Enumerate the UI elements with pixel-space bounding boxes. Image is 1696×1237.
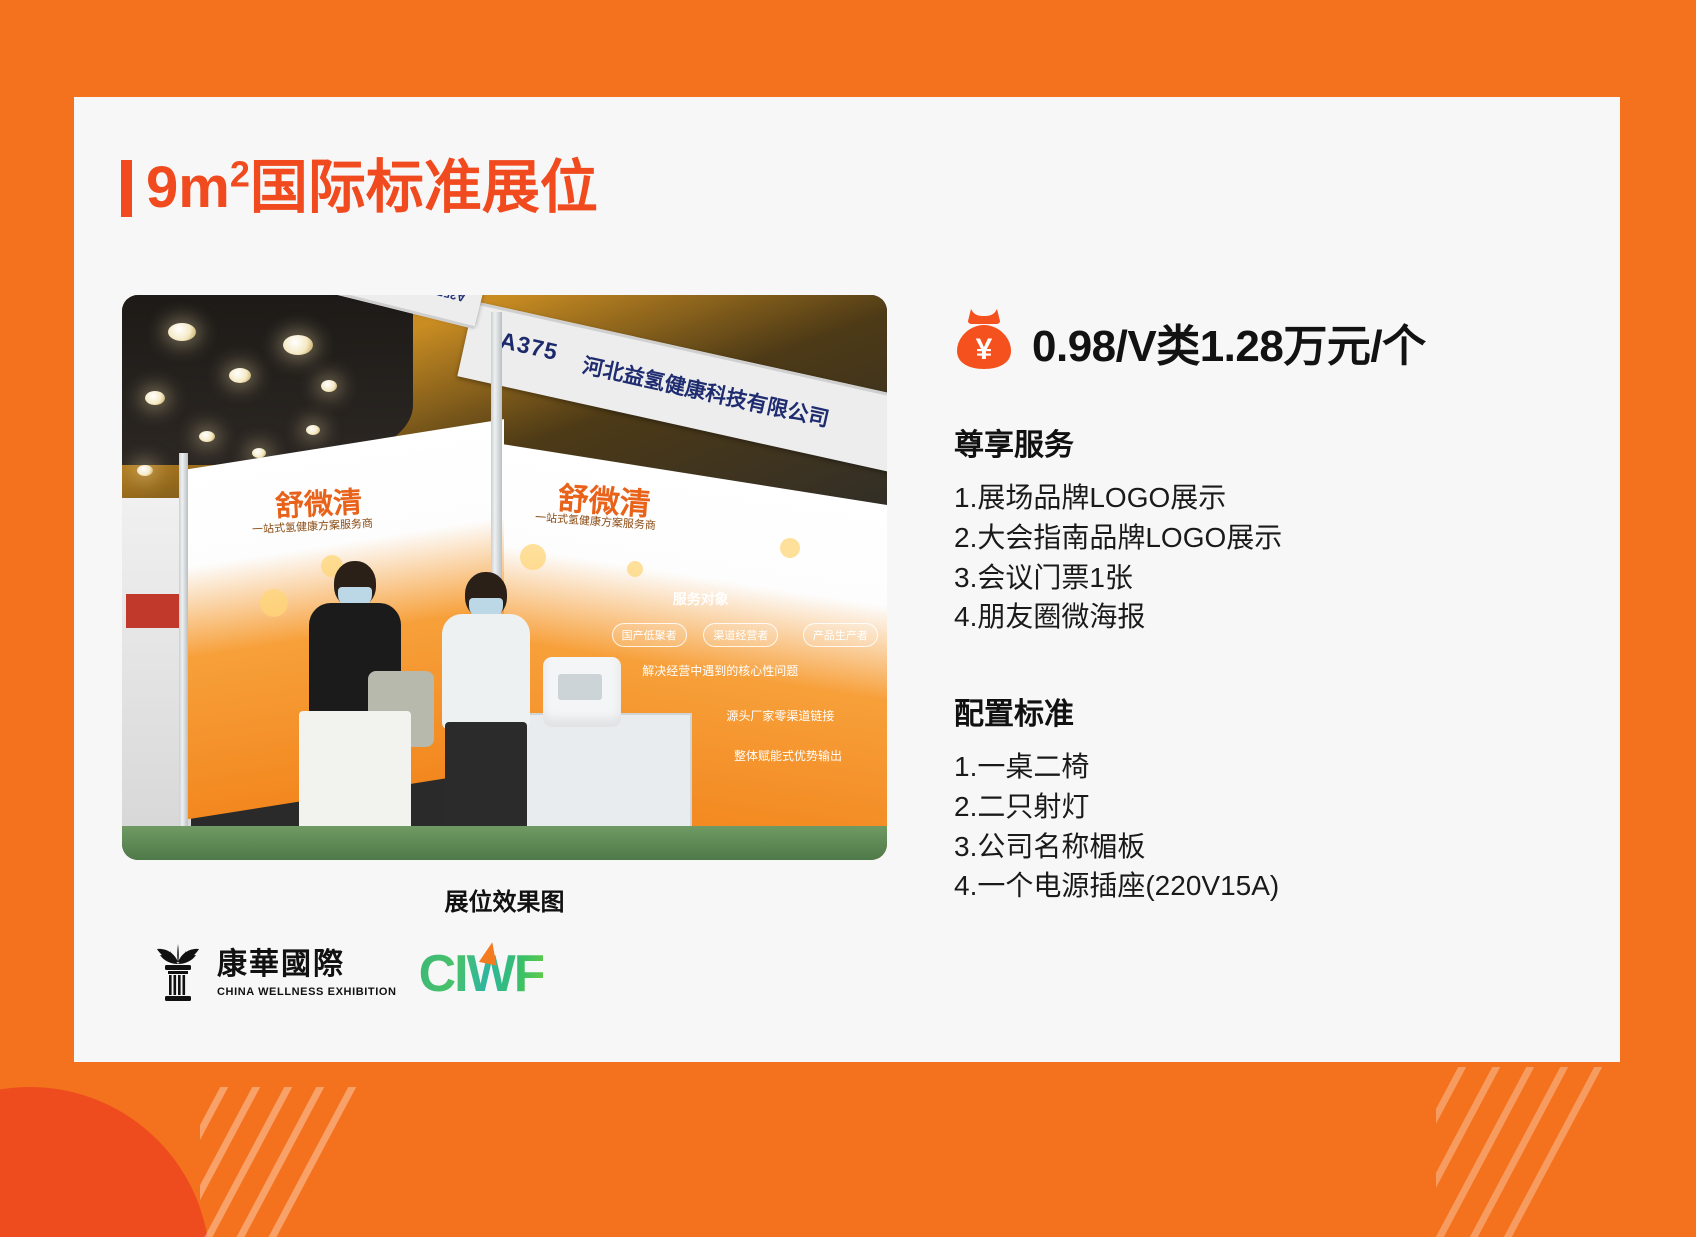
- kanghua-name-en: CHINA WELLNESS EXHIBITION: [217, 987, 397, 998]
- config-list: 1.一桌二椅 2.二只射灯 3.公司名称楣板 4.一个电源插座(220V15A): [954, 747, 1554, 906]
- booth-photo: A375 河北益氢健康科技有限公司 A355 河北益氢健康科技有限公司 舒微清 …: [122, 295, 887, 860]
- photo-visitor: [290, 561, 420, 860]
- ceiling-light-icon: [321, 380, 337, 392]
- list-item: 3.公司名称楣板: [954, 827, 1554, 867]
- decorative-circle: [0, 1087, 210, 1237]
- photo-pillar-left: [179, 453, 188, 849]
- list-item: 4.一个电源插座(220V15A): [954, 866, 1554, 906]
- services-list: 1.展场品牌LOGO展示 2.大会指南品牌LOGO展示 3.会议门票1张 4.朋…: [954, 478, 1554, 637]
- kanghua-logo: 康華國際 CHINA WELLNESS EXHIBITION: [148, 940, 397, 1007]
- photo-service-title: 服务对象: [673, 589, 729, 609]
- ceiling-light-icon: [145, 391, 165, 405]
- photo-stand-code: A375: [497, 327, 560, 366]
- kanghua-name-cn: 康華國際: [217, 950, 397, 980]
- photo-stand-code-left: A355: [436, 295, 467, 305]
- photo-feature-line: 解决经营中遇到的核心性问题: [642, 662, 798, 679]
- ceiling-light-icon: [137, 465, 153, 476]
- photo-ceiling-dark: [122, 295, 413, 465]
- content-card: 9m2国际标准展位: [74, 97, 1620, 1062]
- page-title-superscript: 2: [230, 154, 250, 195]
- ciwf-logo: CIWF: [419, 948, 544, 1000]
- page-title-rest: 国际标准展位: [250, 155, 598, 220]
- list-item: 2.二只射灯: [954, 787, 1554, 827]
- ceiling-light-icon: [283, 335, 313, 355]
- photo-dot: [260, 589, 288, 617]
- list-item: 1.一桌二椅: [954, 747, 1554, 787]
- ceiling-light-icon: [199, 431, 215, 442]
- photo-dot: [780, 538, 800, 558]
- money-bag-icon: ¥: [954, 307, 1014, 376]
- photo-feature-line: 整体赋能式优势输出: [734, 747, 842, 764]
- config-title: 配置标准: [954, 689, 1554, 733]
- photo-chip: 国产低聚者: [612, 623, 687, 647]
- photo-chip: 渠道经营者: [703, 623, 778, 647]
- kanghua-text: 康華國際 CHINA WELLNESS EXHIBITION: [217, 950, 397, 998]
- plant-column-icon: [148, 940, 208, 1007]
- photo-neighbour-sign: [126, 594, 180, 628]
- page-title-row: 9m2国际标准展位: [121, 159, 598, 217]
- photo-floor: [122, 826, 887, 860]
- price-row: ¥ 0.98/V类1.28万元/个: [954, 307, 1554, 376]
- photo-feature-line: 源头厂家零渠道链接: [726, 707, 834, 724]
- list-item: 2.大会指南品牌LOGO展示: [954, 518, 1554, 558]
- photo-dot: [520, 544, 546, 570]
- logo-row: 康華國際 CHINA WELLNESS EXHIBITION CIWF: [148, 940, 543, 1007]
- details-column: ¥ 0.98/V类1.28万元/个 尊享服务 1.展场品牌LOGO展示 2.大会…: [954, 295, 1554, 906]
- page-title: 9m2国际标准展位: [146, 159, 598, 217]
- price-value: 0.98/V类1.28万元/个: [1032, 310, 1426, 374]
- photo-dot: [627, 561, 643, 577]
- list-item: 4.朋友圈微海报: [954, 597, 1554, 637]
- decorative-stripes-right: [1436, 1067, 1696, 1237]
- ceiling-light-icon: [306, 425, 320, 435]
- svg-text:¥: ¥: [976, 333, 993, 366]
- flame-icon: [479, 940, 501, 965]
- decorative-stripes-left: [200, 1087, 430, 1237]
- photo-chip: 产品生产者: [803, 623, 878, 647]
- list-item: 3.会议门票1张: [954, 558, 1554, 598]
- photo-column: A375 河北益氢健康科技有限公司 A355 河北益氢健康科技有限公司 舒微清 …: [122, 295, 887, 917]
- services-title: 尊享服务: [954, 420, 1554, 464]
- list-item: 1.展场品牌LOGO展示: [954, 478, 1554, 518]
- photo-staff: [436, 572, 536, 843]
- page-title-main: 9m: [146, 155, 230, 220]
- title-accent-bar: [121, 160, 132, 217]
- photo-product-device-screen: [558, 674, 602, 700]
- config-section: 配置标准 1.一桌二椅 2.二只射灯 3.公司名称楣板 4.一个电源插座(220…: [954, 689, 1554, 906]
- photo-caption: 展位效果图: [122, 882, 887, 917]
- photo-booth-table: [520, 713, 692, 830]
- services-section: 尊享服务 1.展场品牌LOGO展示 2.大会指南品牌LOGO展示 3.会议门票1…: [954, 420, 1554, 637]
